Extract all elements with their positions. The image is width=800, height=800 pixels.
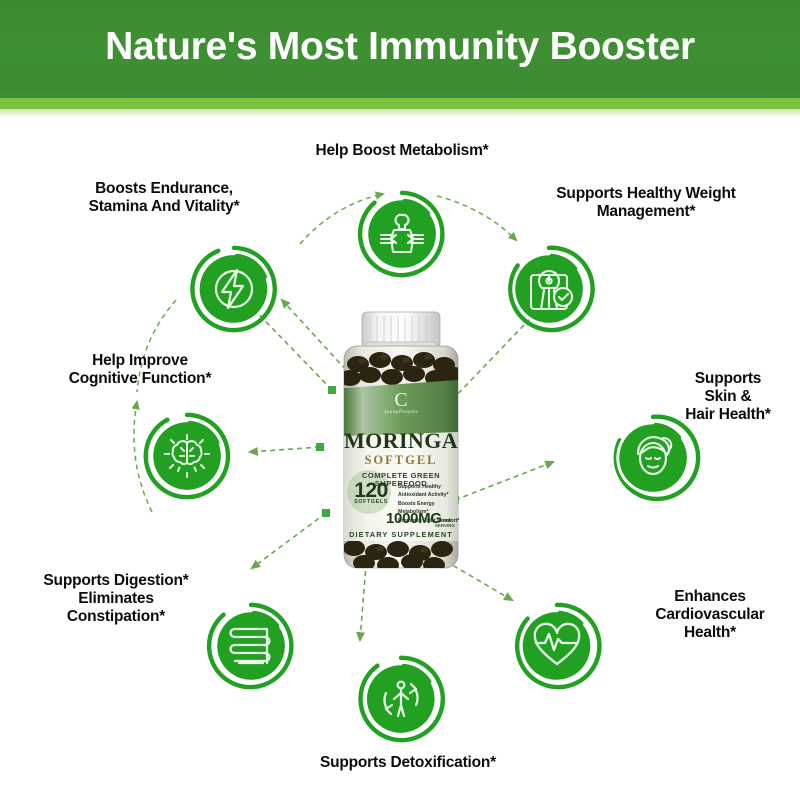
benefit-label-digestion: Supports Digestion*EliminatesConstipatio… xyxy=(8,572,224,626)
lightning-bolt-icon xyxy=(204,259,264,319)
metabolism-body-arrows-icon xyxy=(372,204,432,264)
benefit-label-skin-hair: SupportsSkin &Hair Health* xyxy=(656,370,800,424)
benefit-label-detox: Supports Detoxification* xyxy=(280,754,536,772)
benefit-label-endurance: Boosts Endurance,Stamina And Vitality* xyxy=(52,180,276,216)
face-spa-wrap-icon xyxy=(623,428,683,488)
benefit-icon-weight[interactable] xyxy=(500,240,598,338)
brain-rays-icon xyxy=(157,426,217,486)
benefit-icon-endurance[interactable] xyxy=(185,240,283,338)
product-name: MORINGA xyxy=(336,430,466,452)
product-strength: 1000MG xyxy=(386,511,442,526)
person-recycle-arrows-icon xyxy=(371,669,431,729)
product-footer: DIETARY SUPPLEMENT xyxy=(336,530,466,539)
benefit-icon-cardio[interactable] xyxy=(508,597,606,695)
brand-script: JoungPeoples xyxy=(336,409,466,415)
softgel-count-unit: SOFTGELS xyxy=(344,499,398,505)
weight-scale-check-icon xyxy=(519,259,579,319)
heart-ecg-icon xyxy=(527,616,587,676)
product-form: SOFTGEL xyxy=(336,454,466,467)
benefit-icon-metabolism[interactable] xyxy=(353,185,451,283)
benefit-label-metabolism: Help Boost Metabolism* xyxy=(252,142,552,160)
intestines-icon xyxy=(221,616,281,676)
benefit-icon-cognitive[interactable] xyxy=(138,407,236,505)
claim-line: Supports Healthy xyxy=(398,484,464,492)
product-bottle[interactable]: C JoungPeoples MORINGA SOFTGEL COMPLETE … xyxy=(336,308,466,576)
softgel-count: 120 xyxy=(344,480,398,501)
benefit-icon-detox[interactable] xyxy=(352,650,450,748)
benefit-label-weight: Supports Healthy WeightManagement* xyxy=(512,185,780,221)
infographic-root: Nature's Most Immunity Booster xyxy=(0,0,800,800)
benefit-label-cognitive: Help ImproveCognitive Function* xyxy=(32,352,248,388)
brand-mark: C xyxy=(336,390,466,410)
benefit-label-cardio: EnhancesCardiovascularHealth* xyxy=(620,588,800,642)
claim-line: Antioxidant Activity* xyxy=(398,492,464,500)
